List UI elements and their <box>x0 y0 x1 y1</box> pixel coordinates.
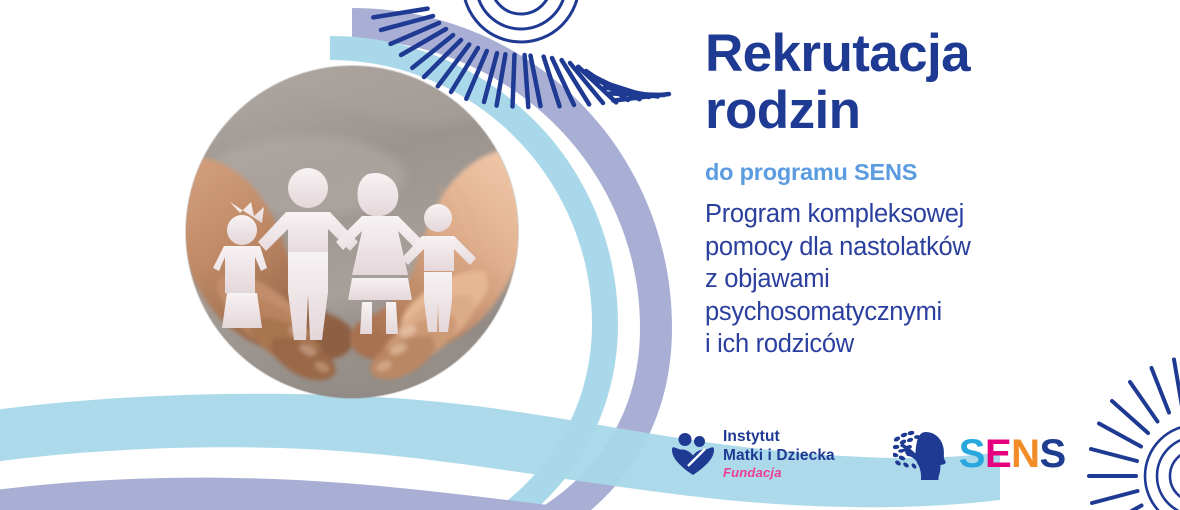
sens-letter-s1: S <box>959 432 985 476</box>
heart-parent-child-icon <box>672 432 714 476</box>
sunburst-bottom-right-icon <box>1145 425 1180 510</box>
subtitle: do programu SENS <box>705 159 1135 186</box>
sunburst-bottom-right-rays <box>1089 356 1180 510</box>
institute-line-3: Fundacja <box>723 466 835 479</box>
logo-row: Instytut Matki i Dziecka Fundacja <box>672 428 1066 480</box>
institute-line-1: Instytut <box>723 429 835 445</box>
promo-banner: Rekrutacja rodzin do programu SENS Progr… <box>0 0 1180 510</box>
institute-logo-text: Instytut Matki i Dziecka Fundacja <box>723 429 835 479</box>
sens-letter-n: N <box>1011 432 1039 476</box>
sunburst-top-icon <box>463 0 579 42</box>
sens-letter-s2: S <box>1040 432 1066 476</box>
head-profile-tree-icon <box>893 428 951 480</box>
hands-holding-paper-family-illustration <box>186 66 518 398</box>
sens-logo[interactable]: SENS <box>893 428 1066 480</box>
institute-line-2: Matki i Dziecka <box>723 448 835 464</box>
hero-photo <box>186 66 518 398</box>
text-content: Rekrutacja rodzin do programu SENS Progr… <box>705 26 1135 360</box>
sens-letter-e: E <box>985 432 1011 476</box>
page-title: Rekrutacja rodzin <box>705 26 1135 139</box>
body-description: Program kompleksowej pomocy dla nastolat… <box>705 198 1135 360</box>
periwinkle-wave <box>0 478 650 510</box>
sens-wordmark: SENS <box>959 434 1066 474</box>
institute-logo[interactable]: Instytut Matki i Dziecka Fundacja <box>672 429 835 479</box>
